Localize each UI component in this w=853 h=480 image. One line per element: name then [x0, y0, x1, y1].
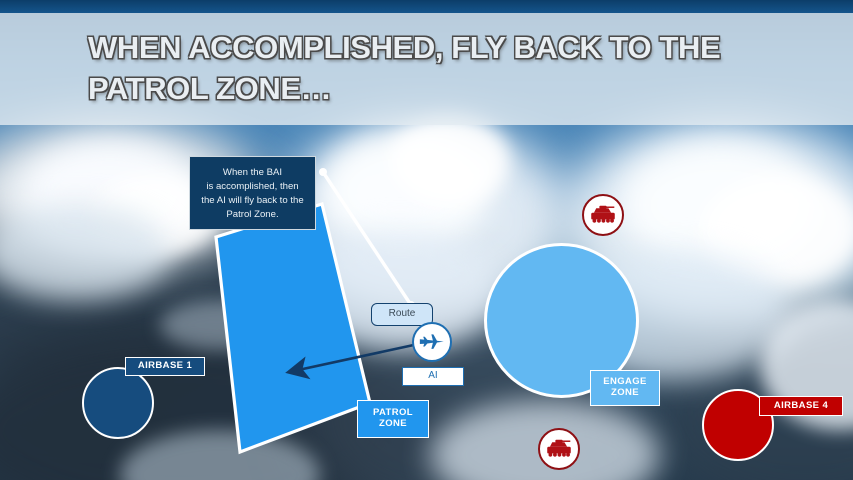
fighter-jet-marker[interactable]: [412, 322, 452, 362]
armored-vehicle-icon: [584, 196, 622, 234]
page-title: WHEN ACCOMPLISHED, FLY BACK TO THE PATRO…: [88, 27, 788, 109]
route-line[interactable]: [310, 160, 430, 320]
engage-zone-label[interactable]: ENGAGE ZONE: [590, 370, 660, 406]
callout-line-2: is accomplished, then: [198, 180, 307, 194]
ai-label[interactable]: AI: [402, 367, 464, 386]
patrol-zone-label-line1: PATROL: [358, 407, 428, 418]
airbase-4-label[interactable]: AIRBASE 4: [759, 396, 843, 416]
patrol-zone-label[interactable]: PATROL ZONE: [357, 400, 429, 438]
route-start-dot[interactable]: [319, 168, 327, 176]
route-path-line[interactable]: [323, 172, 411, 305]
ground-target-1-marker[interactable]: [582, 194, 624, 236]
fighter-jet-icon: [414, 324, 450, 360]
callout-line-1: When the BAI: [198, 166, 307, 180]
airbase-1-marker[interactable]: [82, 367, 154, 439]
airbase-1-label[interactable]: AIRBASE 1: [125, 357, 205, 376]
top-sky-strip: [0, 0, 853, 13]
engage-zone-label-line1: ENGAGE: [591, 376, 659, 387]
patrol-zone-label-line2: ZONE: [358, 418, 428, 429]
callout-box: When the BAI is accomplished, then the A…: [189, 156, 316, 230]
callout-line-3: the AI will fly back to the: [198, 194, 307, 208]
ground-target-2-marker[interactable]: [538, 428, 580, 470]
callout-line-4: Patrol Zone.: [198, 208, 307, 222]
slide-canvas: WHEN ACCOMPLISHED, FLY BACK TO THE PATRO…: [0, 0, 853, 480]
armored-vehicle-icon: [540, 430, 578, 468]
engage-zone-label-line2: ZONE: [591, 387, 659, 398]
